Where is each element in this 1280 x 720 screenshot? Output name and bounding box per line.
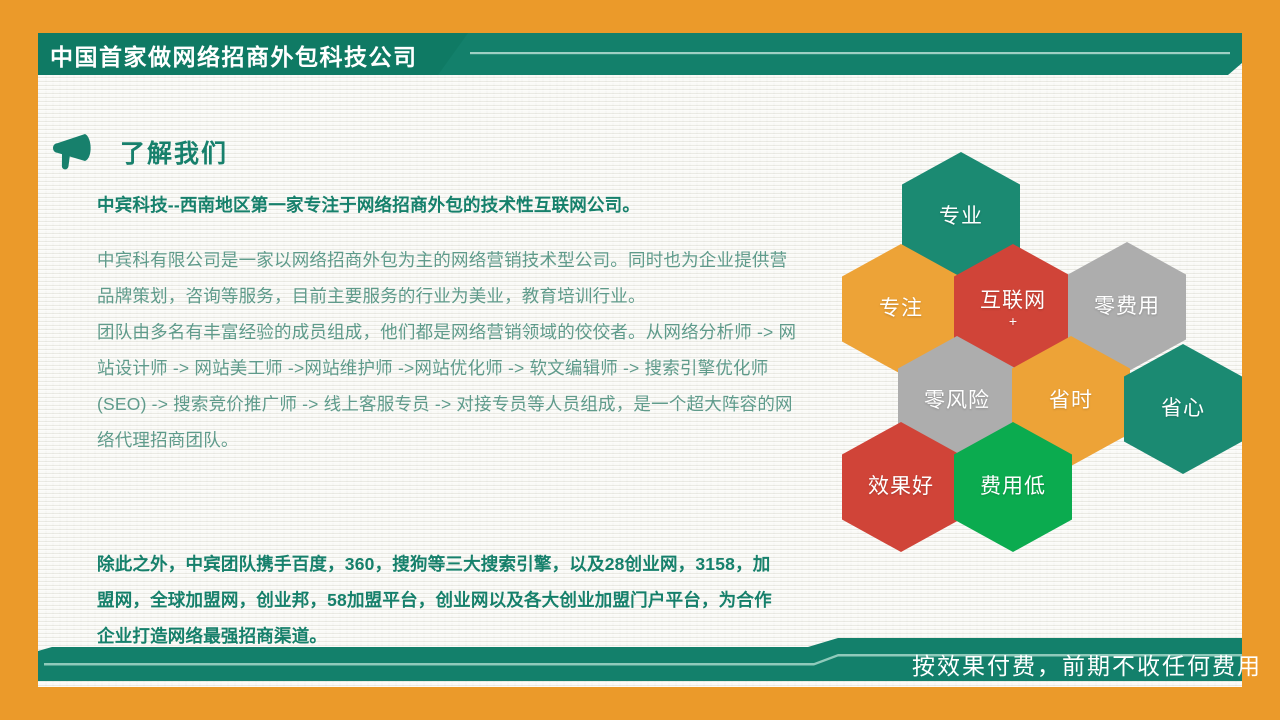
hexagon-label: 效果好 <box>868 475 934 499</box>
hexagon-label: 互联网 <box>980 289 1046 313</box>
hexagon-label: 省心 <box>1161 397 1205 421</box>
section-heading-label: 了解我们 <box>120 134 228 170</box>
hexagon-cluster: 专业专注互联网+零费用零风险省时省心效果好费用低 <box>830 150 1250 550</box>
hexagon-label: 省时 <box>1049 389 1093 413</box>
body-paragraph-1: 中宾科有限公司是一家以网络招商外包为主的网络营销技术型公司。同时也为企业提供营品… <box>97 242 797 314</box>
hexagon-label: 零风险 <box>924 389 990 413</box>
body-text-block: 中宾科技--西南地区第一家专注于网络招商外包的技术性互联网公司。 中宾科有限公司… <box>97 190 797 458</box>
body-paragraph-2: 团队由多名有丰富经验的成员组成，他们都是网络营销领域的佼佼者。从网络分析师 ->… <box>97 314 797 458</box>
header-title: 中国首家做网络招商外包科技公司 <box>50 36 418 74</box>
slide-canvas: 中国首家做网络招商外包科技公司 了解我们 中宾科技--西南地区第一家专注于网络招… <box>0 0 1280 720</box>
footer-label: 按效果付费，前期不收任何费用 <box>912 646 1262 682</box>
hexagon-label: 零费用 <box>1094 295 1160 319</box>
hexagon-sublabel: + <box>1009 314 1017 329</box>
body-lede: 中宾科技--西南地区第一家专注于网络招商外包的技术性互联网公司。 <box>97 190 797 220</box>
megaphone-icon <box>52 132 98 172</box>
hexagon-label: 专注 <box>879 297 923 321</box>
hexagon-label: 专业 <box>939 205 983 229</box>
hexagon-label: 费用低 <box>980 475 1046 499</box>
section-heading: 了解我们 <box>52 132 228 172</box>
